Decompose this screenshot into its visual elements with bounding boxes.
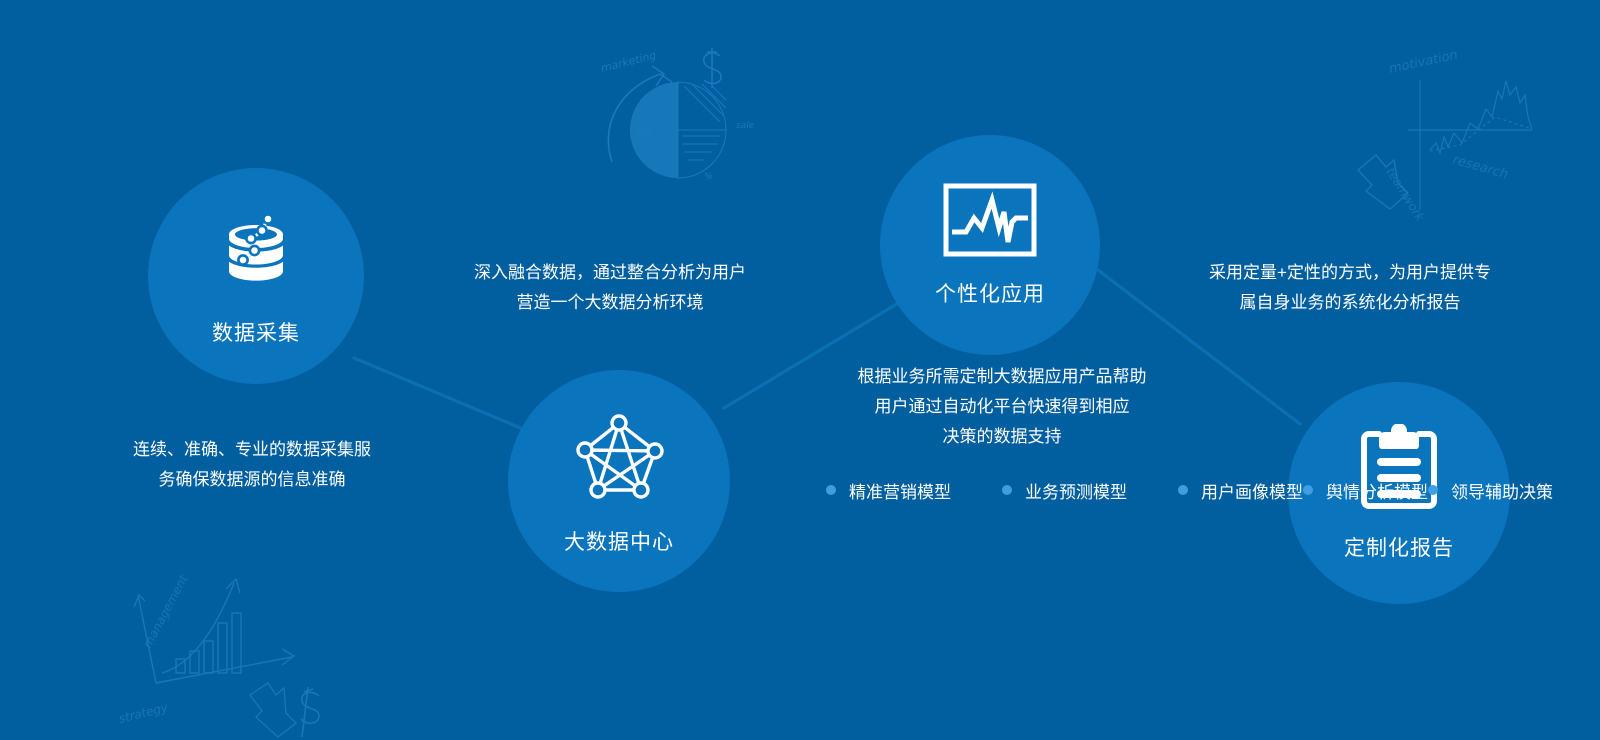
connector-collect-to-center [354, 358, 530, 432]
list-item[interactable]: 用户画像模型 [1178, 470, 1303, 510]
database-network-icon [210, 205, 302, 297]
network-graph-icon [569, 406, 669, 506]
description-customized-report: 采用定量+定性的方式，为用户提供专 属自身业务的系统化分析报告 [1178, 258, 1522, 318]
description-line: 根据业务所需定制大数据应用产品帮助 [828, 362, 1176, 392]
description-data-collection: 连续、准确、专业的数据采集服 务确保数据源的信息准确 [104, 435, 400, 495]
model-list: 精准营销模型 业务预测模型 用户画像模型 舆情分析模型 领导辅助决策 [826, 470, 1178, 510]
list-item[interactable]: 精准营销模型 [826, 470, 1002, 510]
list-item-label: 舆情分析模型 [1326, 478, 1428, 503]
list-item-label: 业务预测模型 [1025, 478, 1127, 503]
bullet-dot-icon [1303, 485, 1313, 495]
bullet-dot-icon [826, 485, 836, 495]
infographic-canvas: marketing sale % 4% motivation research … [0, 0, 1600, 740]
description-line: 属自身业务的系统化分析报告 [1178, 288, 1522, 318]
bullet-dot-icon [1178, 485, 1188, 495]
list-item[interactable]: 业务预测模型 [1002, 470, 1178, 510]
bullet-dot-icon [1002, 485, 1012, 495]
description-line: 连续、准确、专业的数据采集服 [104, 435, 400, 465]
description-line: 深入融合数据，通过整合分析为用户 [438, 258, 782, 288]
bullet-dot-icon [1428, 485, 1438, 495]
node-label-customized-report: 定制化报告 [1344, 532, 1454, 562]
node-label-data-collection: 数据采集 [212, 317, 300, 347]
list-item-label: 精准营销模型 [849, 478, 951, 503]
node-data-collection[interactable]: 数据采集 [148, 168, 364, 384]
description-line: 用户通过自动化平台快速得到相应 [828, 392, 1176, 422]
description-line: 营造一个大数据分析环境 [438, 288, 782, 318]
description-data-fusion: 深入融合数据，通过整合分析为用户 营造一个大数据分析环境 [438, 258, 782, 318]
waveform-chart-icon [942, 182, 1038, 262]
list-item-label: 用户画像模型 [1201, 478, 1303, 503]
description-line: 务确保数据源的信息准确 [104, 465, 400, 495]
description-custom-application: 根据业务所需定制大数据应用产品帮助 用户通过自动化平台快速得到相应 决策的数据支… [828, 362, 1176, 452]
description-line: 采用定量+定性的方式，为用户提供专 [1178, 258, 1522, 288]
list-item[interactable]: 舆情分析模型 [1303, 470, 1428, 510]
node-big-data-center[interactable]: 大数据中心 [508, 370, 730, 592]
list-item-label: 领导辅助决策 [1451, 478, 1553, 503]
list-item[interactable]: 领导辅助决策 [1428, 470, 1553, 510]
node-label-personalized-application: 个性化应用 [935, 278, 1045, 308]
node-personalized-application[interactable]: 个性化应用 [880, 135, 1100, 355]
description-line: 决策的数据支持 [828, 422, 1176, 452]
node-label-big-data-center: 大数据中心 [564, 526, 674, 556]
